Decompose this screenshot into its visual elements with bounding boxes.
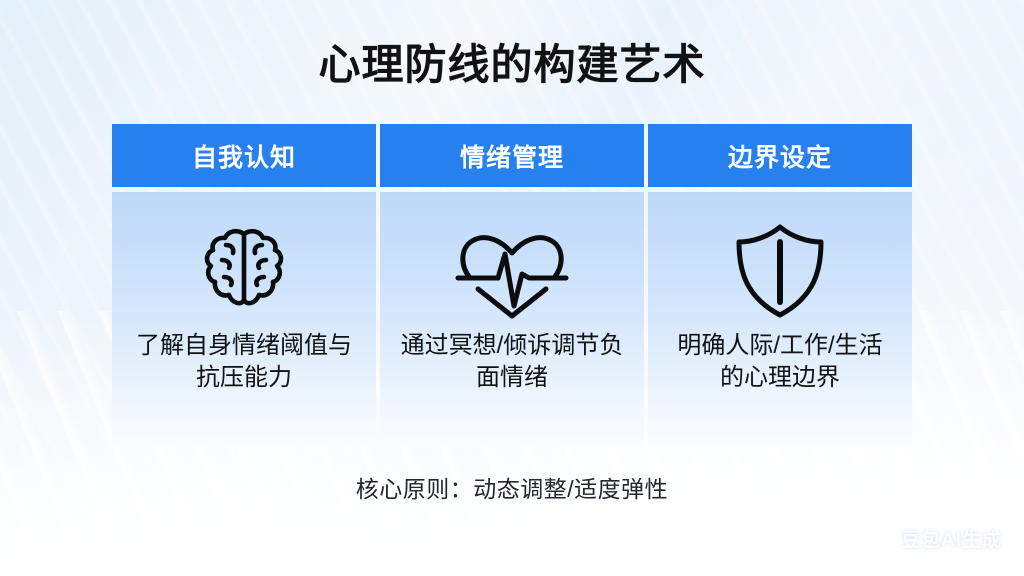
column-text-self-awareness: 了解自身情绪阈值与抗压能力 [130, 330, 357, 393]
page-title: 心理防线的构建艺术 [0, 41, 1024, 89]
column-body-emotion-management: 通过冥想/倾诉调节负面情绪 [380, 192, 644, 447]
column-text-boundary-setting: 明确人际/工作/生活的心理边界 [666, 330, 893, 393]
column-body-self-awareness: 了解自身情绪阈值与抗压能力 [112, 192, 376, 447]
shield-icon [648, 214, 912, 326]
column-header-boundary-setting: 边界设定 [648, 124, 912, 187]
slide-canvas: 心理防线的构建艺术 自我认知 [0, 0, 1024, 576]
three-column-matrix: 自我认知 了解自身情绪阈值与抗压能力 [112, 124, 912, 447]
column-self-awareness: 自我认知 了解自身情绪阈值与抗压能力 [112, 124, 376, 447]
column-text-emotion-management: 通过冥想/倾诉调节负面情绪 [398, 330, 625, 393]
column-emotion-management: 情绪管理 通过冥想/倾诉调节负面情绪 [380, 124, 644, 447]
column-header-emotion-management: 情绪管理 [380, 124, 644, 187]
core-principle-note: 核心原则：动态调整/适度弹性 [0, 470, 1024, 504]
column-boundary-setting: 边界设定 明确人际/工作/生活的心理边界 [648, 124, 912, 447]
watermark: 豆包AI生成 [901, 525, 1002, 552]
column-body-boundary-setting: 明确人际/工作/生活的心理边界 [648, 192, 912, 447]
heartbeat-icon [380, 214, 644, 326]
column-header-self-awareness: 自我认知 [112, 124, 376, 187]
brain-icon [112, 214, 376, 326]
